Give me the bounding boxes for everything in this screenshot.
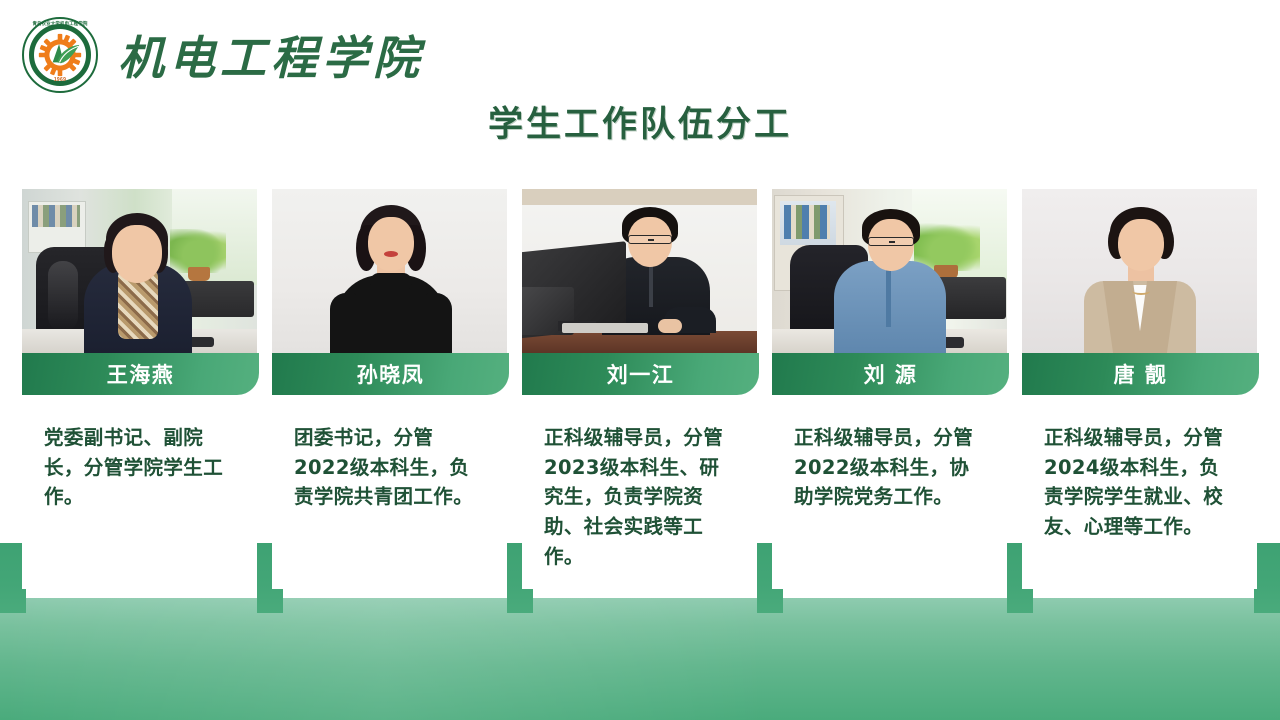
staff-card-2[interactable]: 刘一江 正科级辅导员，分管2023级本科生、研究生，负责学院资助、社会实践等工作… bbox=[522, 189, 757, 589]
staff-name-banner-4: 唐 靓 bbox=[1022, 353, 1259, 395]
staff-card-0[interactable]: 王海燕 党委副书记、副院长，分管学院学生工作。 bbox=[22, 189, 257, 589]
staff-card-3[interactable]: 刘 源 正科级辅导员，分管2022级本科生，协助学院党务工作。 bbox=[772, 189, 1007, 589]
staff-description-wrap-4: 正科级辅导员，分管2024级本科生，负责学院学生就业、校友、心理等工作。 bbox=[1022, 395, 1257, 589]
staff-name-3: 刘 源 bbox=[864, 359, 918, 389]
staff-photo-4 bbox=[1022, 189, 1257, 353]
staff-description-wrap-3: 正科级辅导员，分管2022级本科生，协助学院党务工作。 bbox=[772, 395, 1007, 589]
staff-photo-2 bbox=[522, 189, 757, 353]
staff-photo-1 bbox=[272, 189, 507, 353]
staff-photo-3 bbox=[772, 189, 1007, 353]
staff-description-4: 正科级辅导员，分管2024级本科生，负责学院学生就业、校友、心理等工作。 bbox=[1044, 423, 1234, 542]
staff-name-4: 唐 靓 bbox=[1114, 359, 1168, 389]
staff-card-4[interactable]: 唐 靓 正科级辅导员，分管2024级本科生，负责学院学生就业、校友、心理等工作。 bbox=[1022, 189, 1257, 589]
staff-name-0: 王海燕 bbox=[107, 359, 175, 389]
staff-name-banner-1: 孙晓凤 bbox=[272, 353, 509, 395]
staff-description-2: 正科级辅导员，分管2023级本科生、研究生，负责学院资助、社会实践等工作。 bbox=[544, 423, 734, 571]
staff-name-2: 刘一江 bbox=[607, 359, 675, 389]
staff-name-banner-2: 刘一江 bbox=[522, 353, 759, 395]
staff-description-1: 团委书记，分管2022级本科生，负责学院共青团工作。 bbox=[294, 423, 484, 512]
staff-description-wrap-2: 正科级辅导员，分管2023级本科生、研究生，负责学院资助、社会实践等工作。 bbox=[522, 395, 757, 589]
slide-root: 青岛农业大学机电工程学院 bbox=[0, 0, 1280, 720]
staff-card-1[interactable]: 孙晓凤 团委书记，分管2022级本科生，负责学院共青团工作。 bbox=[272, 189, 507, 589]
staff-description-wrap-1: 团委书记，分管2022级本科生，负责学院共青团工作。 bbox=[272, 395, 507, 589]
staff-name-banner-0: 王海燕 bbox=[22, 353, 259, 395]
staff-name-1: 孙晓凤 bbox=[357, 359, 425, 389]
staff-card-list: 王海燕 党委副书记、副院长，分管学院学生工作。 孙晓凤 团委书 bbox=[0, 0, 1280, 720]
staff-photo-0 bbox=[22, 189, 257, 353]
staff-description-wrap-0: 党委副书记、副院长，分管学院学生工作。 bbox=[22, 395, 257, 589]
staff-description-0: 党委副书记、副院长，分管学院学生工作。 bbox=[44, 423, 234, 512]
staff-name-banner-3: 刘 源 bbox=[772, 353, 1009, 395]
staff-description-3: 正科级辅导员，分管2022级本科生，协助学院党务工作。 bbox=[794, 423, 984, 512]
